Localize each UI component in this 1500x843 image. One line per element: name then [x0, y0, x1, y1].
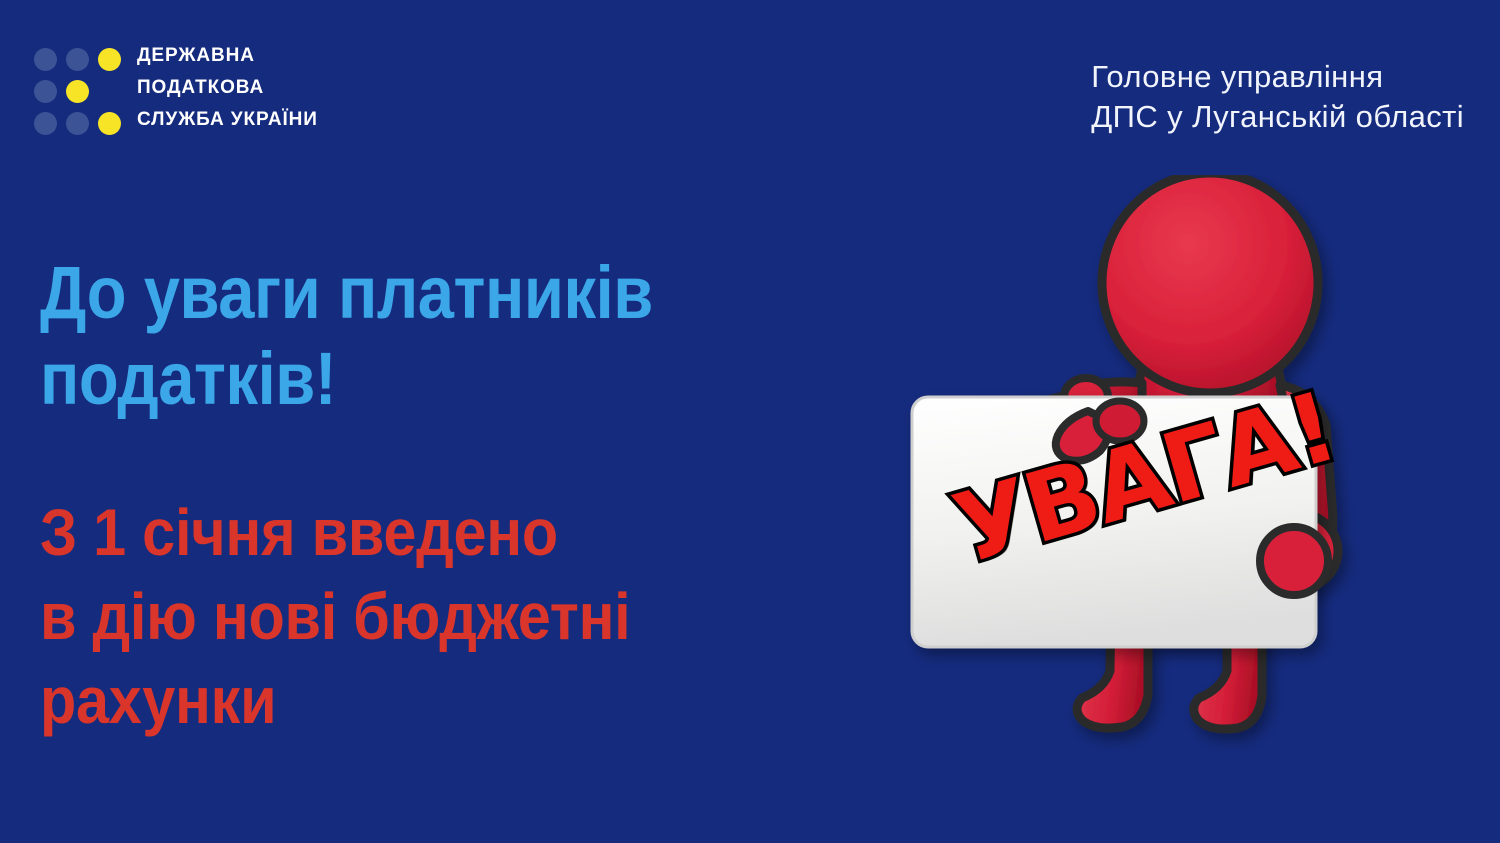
subheadline: З 1 січня введено в дію нові бюджетні ра… [40, 490, 900, 742]
banner-root: ДЕРЖАВНА ПОДАТКОВА СЛУЖБА УКРАЇНИ Головн… [0, 0, 1500, 843]
organization-line-1: Головне управління [1091, 57, 1464, 97]
logo-line-3: СЛУЖБА УКРАЇНИ [137, 108, 318, 131]
logo-dot-active [66, 80, 89, 103]
logo-dot-row [34, 80, 121, 103]
subheadline-line-1: З 1 січня введено [40, 490, 814, 574]
logo-dot-inactive [66, 48, 89, 71]
logo-dot-active [98, 48, 121, 71]
organization-line-2: ДПС у Луганській області [1091, 97, 1464, 137]
logo-dot-active [98, 112, 121, 135]
logo-dot-inactive [66, 112, 89, 135]
subheadline-line-2: в дію нові бюджетні [40, 574, 814, 658]
logo-dot-row [34, 112, 121, 135]
organization-name: Головне управління ДПС у Луганській обла… [1091, 57, 1464, 137]
logo-dot-inactive [34, 80, 57, 103]
logo-dot-matrix [34, 44, 121, 135]
logo-text-block: ДЕРЖАВНА ПОДАТКОВА СЛУЖБА УКРАЇНИ [137, 44, 318, 131]
logo-dot-inactive [34, 48, 57, 71]
logo-dot-empty [98, 80, 121, 103]
headline: До уваги платників податків! [40, 250, 850, 422]
attention-figure-illustration [890, 175, 1430, 765]
logo-line-2: ПОДАТКОВА [137, 76, 318, 99]
dps-logo: ДЕРЖАВНА ПОДАТКОВА СЛУЖБА УКРАЇНИ [34, 44, 318, 135]
headline-line-1: До уваги платників [40, 250, 753, 336]
logo-line-1: ДЕРЖАВНА [137, 44, 318, 67]
subheadline-line-3: рахунки [40, 658, 814, 742]
logo-dot-row [34, 48, 121, 71]
headline-line-2: податків! [40, 336, 753, 422]
logo-dot-inactive [34, 112, 57, 135]
